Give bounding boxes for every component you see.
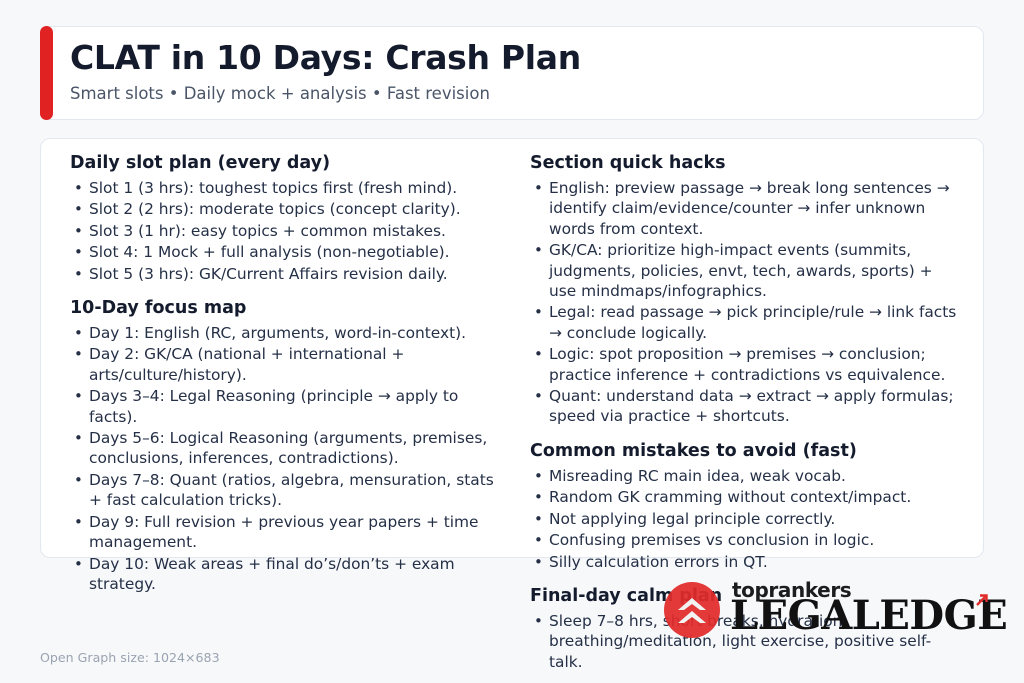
section-title: Common mistakes to avoid (fast) [530,440,958,463]
right-column: Section quick hacks English: preview pas… [530,152,984,558]
page-subtitle: Smart slots • Daily mock + analysis • Fa… [70,83,970,105]
list-item: Days 5–6: Logical Reasoning (arguments, … [70,428,508,469]
page-title: CLAT in 10 Days: Crash Plan [70,38,970,78]
list-item: Slot 3 (1 hr): easy topics + common mist… [70,221,508,241]
list-item: Slot 1 (3 hrs): toughest topics first (f… [70,178,508,198]
list-item: Slot 2 (2 hrs): moderate topics (concept… [70,199,508,219]
list-item: Slot 5 (3 hrs): GK/Current Affairs revis… [70,264,508,284]
list-item: Not applying legal principle correctly. [530,509,958,529]
bullet-list: Slot 1 (3 hrs): toughest topics first (f… [70,178,508,284]
section-quick-hacks: Section quick hacks English: preview pas… [530,152,958,427]
section-title: 10-Day focus map [70,297,508,320]
brand-watermark: toprankers LEGALEDGE [660,576,990,638]
list-item: Days 3–4: Legal Reasoning (principle → a… [70,386,508,427]
list-item: Day 1: English (RC, arguments, word-in-c… [70,323,508,343]
list-item: Quant: understand data → extract → apply… [530,386,958,427]
list-item: GK/CA: prioritize high-impact events (su… [530,240,958,301]
arrow-up-right-icon [974,592,990,608]
list-item: Legal: read passage → pick principle/rul… [530,302,958,343]
section-title: Section quick hacks [530,152,958,175]
header-accent-bar [40,26,53,120]
list-item: Random GK cramming without context/impac… [530,487,958,507]
left-column: Daily slot plan (every day) Slot 1 (3 hr… [40,152,530,558]
footer-size-note: Open Graph size: 1024×683 [40,650,220,665]
header-text-group: CLAT in 10 Days: Crash Plan Smart slots … [70,38,970,105]
brand-name-main: LEGALEDGE [730,592,1007,639]
bullet-list: Misreading RC main idea, weak vocab. Ran… [530,466,958,572]
bullet-list: English: preview passage → break long se… [530,178,958,427]
content-columns: Daily slot plan (every day) Slot 1 (3 hr… [40,138,984,558]
list-item: Day 10: Weak areas + final do’s/don’ts +… [70,554,508,595]
list-item: Days 7–8: Quant (ratios, algebra, mensur… [70,470,508,511]
list-item: Slot 4: 1 Mock + full analysis (non-nego… [70,242,508,262]
list-item: Day 9: Full revision + previous year pap… [70,512,508,553]
section-ten-day-focus-map: 10-Day focus map Day 1: English (RC, arg… [70,297,508,594]
bullet-list: Day 1: English (RC, arguments, word-in-c… [70,323,508,594]
list-item: Logic: spot proposition → premises → con… [530,344,958,385]
list-item: English: preview passage → break long se… [530,178,958,239]
list-item: Confusing premises vs conclusion in logi… [530,530,958,550]
section-common-mistakes: Common mistakes to avoid (fast) Misreadi… [530,440,958,572]
list-item: Silly calculation errors in QT. [530,552,958,572]
double-chevron-up-icon [664,582,720,638]
section-daily-slot-plan: Daily slot plan (every day) Slot 1 (3 hr… [70,152,508,284]
list-item: Misreading RC main idea, weak vocab. [530,466,958,486]
section-title: Daily slot plan (every day) [70,152,508,175]
list-item: Day 2: GK/CA (national + international +… [70,344,508,385]
